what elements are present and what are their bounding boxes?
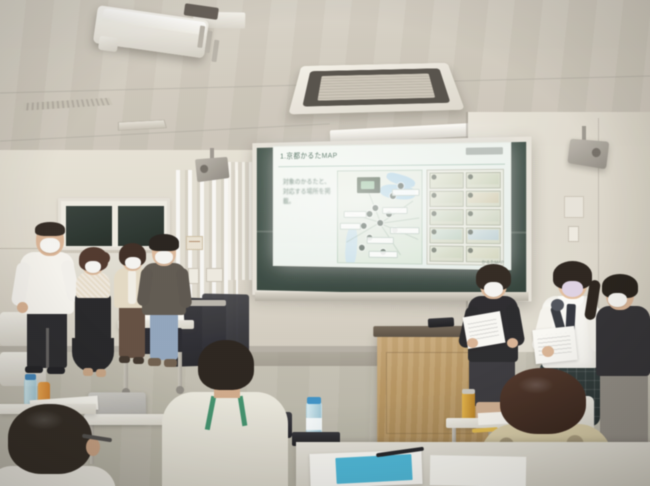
slide-card-grid (426, 169, 503, 266)
projector-vent-icon (211, 40, 219, 62)
scarf (128, 270, 136, 304)
light-switch-panel[interactable] (206, 268, 223, 282)
hair (149, 234, 179, 251)
map-label (340, 223, 361, 230)
wall-speaker-icon (195, 157, 230, 182)
hair-highlight (24, 410, 64, 430)
sandal (96, 369, 106, 377)
map-pin[interactable] (359, 245, 365, 251)
window-curtain (228, 162, 252, 280)
bottle-cap (307, 397, 321, 404)
leg-gap (46, 328, 49, 368)
map-label (390, 227, 420, 234)
face-mask-icon (40, 238, 60, 253)
wall-notice (186, 236, 203, 250)
power-outlet[interactable] (568, 226, 579, 242)
standing-person-left-2 (72, 250, 116, 380)
karuta-card (429, 172, 464, 189)
map-pin[interactable] (361, 223, 367, 229)
head-back (198, 340, 254, 390)
card-badge-icon (468, 229, 473, 234)
map-label (392, 189, 420, 196)
hand (17, 302, 28, 313)
card-badge-icon (468, 211, 473, 216)
karuta-card (466, 172, 501, 189)
slide-body-text: 対象のかるたと、対応する場所を掲載。 (283, 177, 333, 206)
hand (507, 338, 518, 348)
card-badge-icon (431, 229, 436, 234)
card-badge-icon (468, 174, 473, 179)
projector-remote[interactable] (428, 317, 454, 327)
light-switch[interactable] (188, 268, 199, 284)
karuta-card (429, 191, 464, 208)
map-label (344, 211, 367, 218)
map-pin[interactable] (377, 220, 383, 226)
karuta-card (466, 209, 501, 226)
patterned-blouse (76, 272, 110, 298)
bottle-label (306, 418, 322, 430)
seated-person-center (162, 340, 292, 486)
map-label (382, 207, 407, 214)
script-paper[interactable] (532, 326, 577, 364)
map-label (369, 251, 398, 258)
classroom-photo: 1.京都かるたMAP 対象のかるたと、対応する場所を掲載。 (0, 0, 650, 486)
card-badge-icon (431, 193, 436, 198)
karuta-card (429, 245, 464, 262)
ceiling-air-conditioner (288, 63, 464, 115)
map-photo-thumbnail (357, 177, 380, 193)
karuta-card (466, 190, 501, 207)
microphone-head-icon (551, 299, 564, 311)
ear (86, 438, 100, 456)
hair-bun (99, 252, 110, 264)
dark-top (596, 306, 650, 376)
face-mask-icon (155, 251, 173, 264)
blue-folder[interactable] (335, 454, 412, 484)
hand (467, 338, 478, 348)
hand (542, 346, 554, 357)
karuta-card (429, 209, 464, 226)
card-badge-icon (431, 175, 436, 180)
shoe (119, 356, 130, 363)
face-mask-icon (85, 261, 101, 273)
face-mask-icon (562, 281, 583, 297)
map-pin[interactable] (372, 205, 378, 211)
map-pin[interactable] (367, 211, 373, 217)
slide-title: 1.京都かるたMAP (280, 151, 337, 162)
seated-person-left (0, 404, 126, 486)
face-mask-icon (484, 282, 503, 297)
card-badge-icon (431, 247, 436, 252)
shoe (25, 366, 43, 373)
slide-corner-tag (466, 147, 503, 155)
chair-frame (186, 300, 226, 306)
projection-screen: 1.京都かるたMAP 対象のかるたと、対応する場所を掲載。 (273, 142, 511, 270)
hair (35, 222, 65, 236)
karuta-card (466, 227, 501, 244)
karuta-card (429, 227, 464, 244)
face-mask-icon (125, 257, 141, 269)
sandal (148, 358, 161, 366)
black-dress (75, 292, 111, 370)
shoe (47, 367, 65, 374)
face-mask-icon (608, 293, 627, 307)
projector-lens-icon (98, 36, 119, 53)
hair-highlight (518, 376, 554, 394)
can-lid (462, 389, 475, 394)
card-badge-icon (468, 193, 473, 198)
card-badge-icon (468, 248, 473, 253)
slide-map (337, 170, 422, 265)
standing-person-left-1 (14, 224, 76, 374)
map-label (367, 237, 394, 244)
paper-sheet[interactable] (430, 455, 527, 486)
map-water (344, 226, 358, 264)
wall-plate (564, 196, 584, 218)
card-badge-icon (431, 211, 436, 216)
bottle-cap (25, 374, 36, 380)
light-shirt (162, 392, 288, 486)
presentation-slide: 1.京都かるたMAP 対象のかるたと、対応する場所を掲載。 (274, 143, 511, 269)
sandal (83, 368, 93, 376)
ac-grille-icon (317, 73, 435, 100)
